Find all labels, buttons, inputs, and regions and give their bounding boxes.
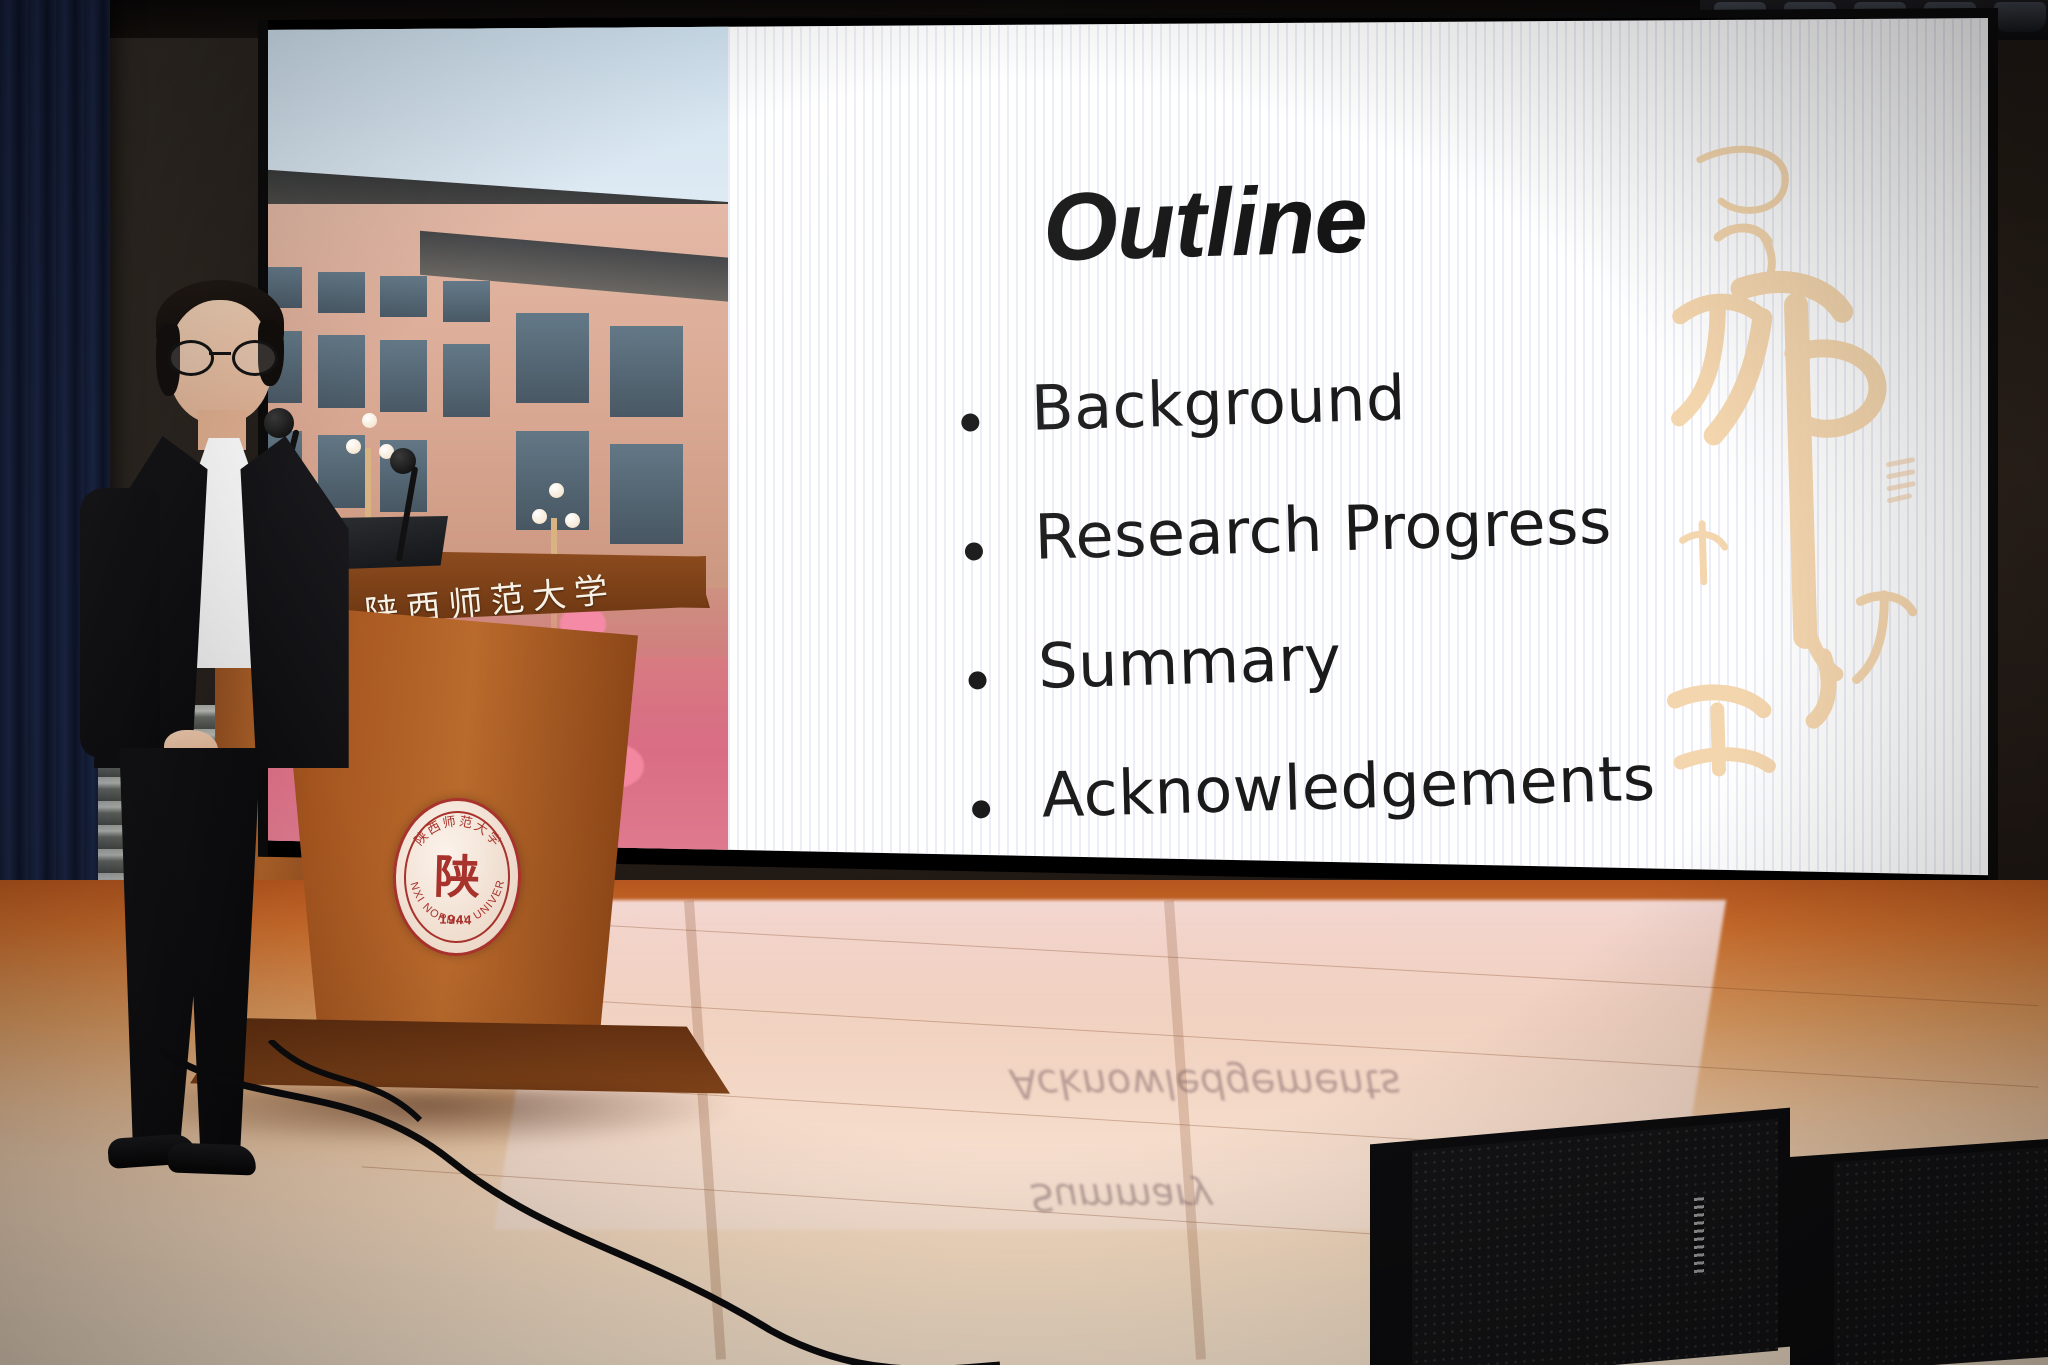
presenter [72, 278, 372, 1158]
floor-reflection-summary: Summary [1026, 1175, 1217, 1219]
floor-cable [120, 1040, 1020, 1365]
presenter-arm [80, 488, 160, 758]
microphone-head-2 [390, 448, 416, 474]
glasses-icon [168, 340, 276, 370]
stage-monitor-speaker-2 [1790, 1139, 2048, 1365]
screen-sheen [728, 12, 1988, 884]
slide-text-panel: Outline Background Research Progress Sum… [728, 12, 1988, 884]
svg-text:陕西师范大学: 陕西师范大学 [412, 813, 506, 851]
university-seal: 陕 1944 陕西师范大学 SHAANXI NORMAL UNIVERSITY [391, 796, 523, 957]
stage-scene: Outline Background Research Progress Sum… [0, 0, 2048, 1365]
seal-text-arcs: 陕西师范大学 SHAANXI NORMAL UNIVERSITY [394, 799, 520, 954]
stage-monitor-speaker-1 [1370, 1108, 1790, 1365]
floor-reflection-acknowledgements: Acknowledgements [1006, 1060, 1405, 1106]
